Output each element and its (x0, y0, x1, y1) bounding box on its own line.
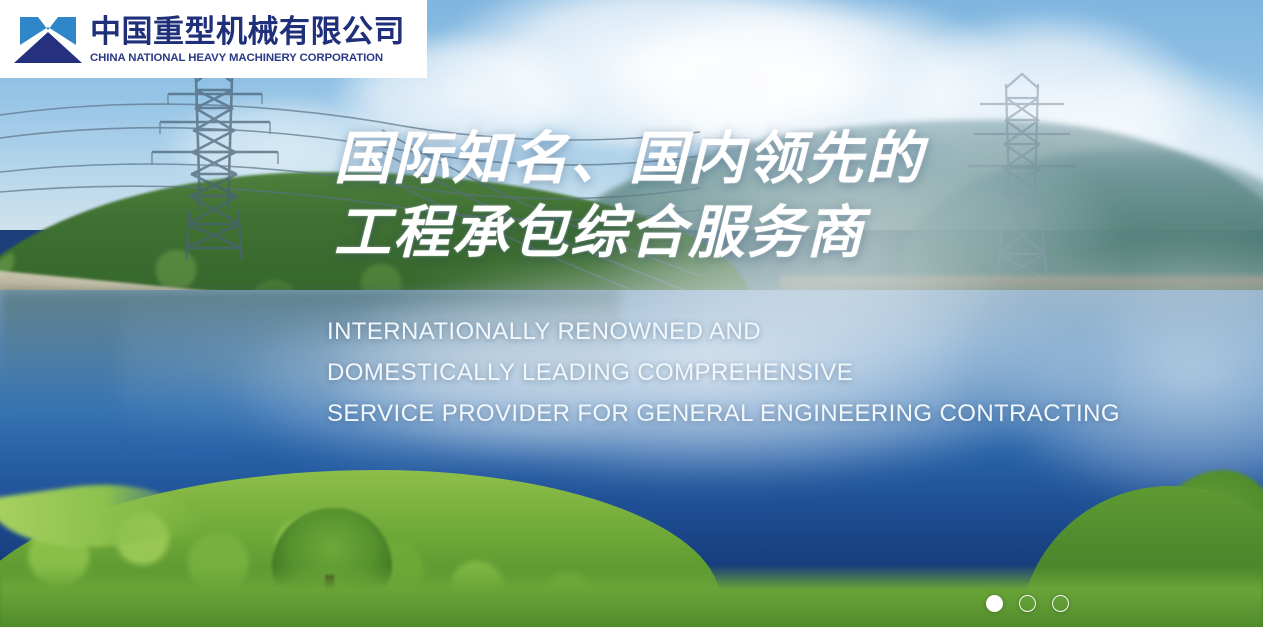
company-logo-plate[interactable]: 中国重型机械有限公司 CHINA NATIONAL HEAVY MACHINER… (0, 0, 427, 78)
mountain-logo-icon (12, 11, 84, 67)
carousel-dot-3[interactable] (1052, 595, 1069, 612)
carousel-pagination[interactable] (986, 595, 1069, 612)
hero-headline-block: 国际知名、国内领先的 工程承包综合服务商 (334, 122, 924, 270)
hero-subheadline-line-3: SERVICE PROVIDER FOR GENERAL ENGINEERING… (327, 393, 1120, 434)
hero-subheadline-line-2: DOMESTICALLY LEADING COMPREHENSIVE (327, 352, 1120, 393)
logo-text-block: 中国重型机械有限公司 CHINA NATIONAL HEAVY MACHINER… (90, 14, 405, 64)
hero-headline-line-2: 工程承包综合服务商 (334, 196, 924, 270)
hero-headline-line-1: 国际知名、国内领先的 (334, 122, 924, 196)
hero-subheadline-line-1: INTERNATIONALLY RENOWNED AND (327, 311, 1120, 352)
carousel-dot-2[interactable] (1019, 595, 1036, 612)
company-name-cn: 中国重型机械有限公司 (90, 16, 405, 49)
hero-subheadline-block: INTERNATIONALLY RENOWNED AND DOMESTICALL… (327, 311, 1120, 434)
company-name-en: CHINA NATIONAL HEAVY MACHINERY CORPORATI… (90, 52, 405, 64)
foreground-foliage (0, 565, 1263, 627)
carousel-dot-1[interactable] (986, 595, 1003, 612)
hero-banner: 中国重型机械有限公司 CHINA NATIONAL HEAVY MACHINER… (0, 0, 1263, 627)
